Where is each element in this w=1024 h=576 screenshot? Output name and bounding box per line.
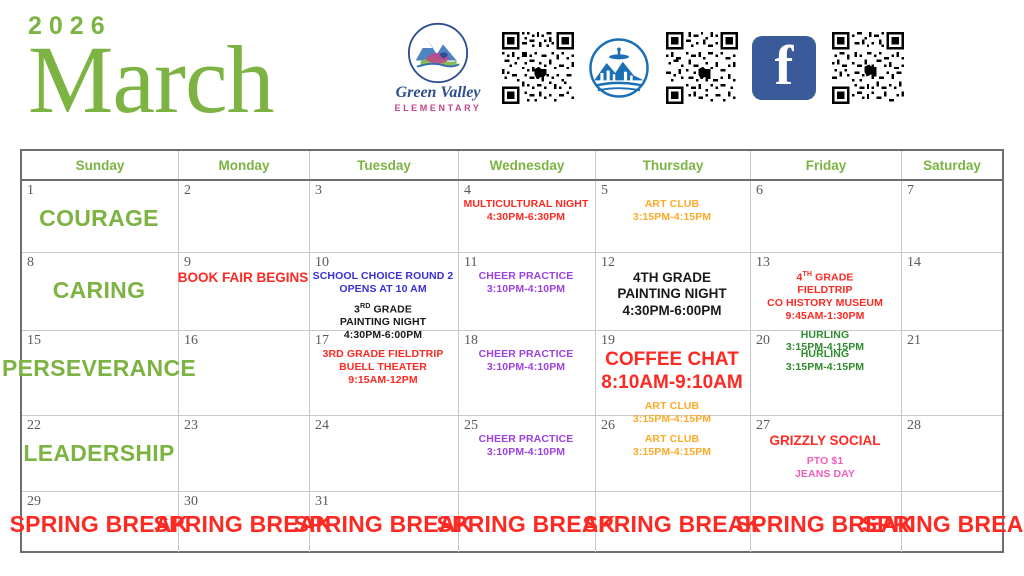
calendar-day-cell[interactable]: 124TH GRADEPAINTING NIGHT4:30PM-6:00PM	[596, 253, 751, 330]
day-events: MULTICULTURAL NIGHT4:30PM-6:30PM	[459, 183, 593, 252]
day-number: 9	[184, 255, 191, 270]
event-line: 3:10PM-4:10PM	[479, 283, 574, 296]
event-line: 3:15PM-4:15PM	[633, 211, 711, 224]
day-number: 12	[601, 255, 615, 270]
event-line: PAINTING NIGHT	[340, 316, 426, 329]
calendar-event[interactable]: GRIZZLY SOCIAL	[769, 433, 880, 449]
weekday-header-friday: Friday	[751, 151, 902, 179]
calendar-day-cell[interactable]: 173RD GRADE FIELDTRIPBUELL THEATER9:15AM…	[310, 331, 459, 415]
event-line: PTO $1	[795, 455, 855, 468]
qr-code-school-icon[interactable]	[502, 32, 574, 104]
calendar-day-cell[interactable]: SPRING BREAK	[902, 492, 1002, 552]
calendar-day-cell[interactable]: 14	[902, 253, 1002, 330]
calendar-day-cell[interactable]: 4MULTICULTURAL NIGHT4:30PM-6:30PM	[459, 181, 596, 252]
calendar-body: 1COURAGE234MULTICULTURAL NIGHT4:30PM-6:3…	[22, 181, 1002, 552]
event-line: 4:30PM-6:30PM	[464, 211, 589, 224]
day-number: 5	[601, 183, 608, 198]
event-line: ART CLUB	[633, 198, 711, 211]
calendar-day-cell[interactable]: 19COFFEE CHAT8:10AM-9:10AMART CLUB3:15PM…	[596, 331, 751, 415]
calendar-week-row: 1COURAGE234MULTICULTURAL NIGHT4:30PM-6:3…	[22, 181, 1002, 253]
event-line: CO HISTORY MUSEUM	[767, 297, 883, 310]
day-events: ART CLUB3:15PM-4:15PM	[596, 418, 748, 491]
day-number: 22	[27, 418, 41, 433]
mountain-bear-logo-icon	[407, 22, 469, 84]
calendar-event[interactable]: CARING	[53, 276, 146, 304]
calendar-day-cell[interactable]: 20HURLING3:15PM-4:15PM	[751, 331, 902, 415]
calendar-day-cell[interactable]: 11CHEER PRACTICE3:10PM-4:10PM	[459, 253, 596, 330]
day-number: 20	[756, 333, 770, 348]
day-number: 7	[907, 183, 914, 198]
day-number: 3	[315, 183, 322, 198]
day-number: 18	[464, 333, 478, 348]
day-events: SPRING BREAK	[596, 494, 748, 552]
weekday-header-tuesday: Tuesday	[310, 151, 459, 179]
event-line: 3:10PM-4:10PM	[479, 446, 574, 459]
event-line: 4:30PM-6:00PM	[617, 303, 726, 319]
calendar-event[interactable]: BOOK FAIR BEGINS	[178, 270, 309, 286]
calendar-day-cell[interactable]: 7	[902, 181, 1002, 252]
calendar-event[interactable]: SPRING BREAK	[862, 510, 1024, 538]
event-line: 3:15PM-4:15PM	[633, 446, 711, 459]
event-line: 3RD GRADE	[340, 302, 426, 316]
weekday-header-row: SundayMondayTuesdayWednesdayThursdayFrid…	[22, 151, 1002, 181]
day-number: 28	[907, 418, 921, 433]
event-line: CARING	[53, 276, 146, 304]
event-line: BUELL THEATER	[323, 361, 444, 374]
district-skyline-logo-icon	[588, 37, 650, 99]
calendar-event[interactable]: MULTICULTURAL NIGHT4:30PM-6:30PM	[464, 198, 589, 224]
day-events	[310, 183, 456, 252]
calendar-grid: SundayMondayTuesdayWednesdayThursdayFrid…	[20, 149, 1004, 553]
event-line: PERSEVERANCE	[2, 354, 196, 382]
event-line: 3RD GRADE FIELDTRIP	[323, 348, 444, 361]
event-line: COFFEE CHAT	[601, 348, 742, 371]
day-number: 11	[464, 255, 477, 270]
event-line: CHEER PRACTICE	[479, 433, 574, 446]
day-number: 31	[315, 494, 329, 509]
calendar-event[interactable]: PERSEVERANCE	[2, 354, 196, 382]
event-line: BOOK FAIR BEGINS	[178, 270, 309, 286]
school-logo: Green Valley ELEMENTARY	[390, 22, 486, 113]
day-events: CARING	[22, 255, 176, 330]
calendar-page: 2026 March Green Valley	[0, 0, 1024, 576]
event-line: 9:15AM-12PM	[323, 374, 444, 387]
day-events	[179, 333, 307, 415]
calendar-event[interactable]: ART CLUB3:15PM-4:15PM	[633, 198, 711, 224]
day-number: 27	[756, 418, 770, 433]
day-number: 16	[184, 333, 198, 348]
day-number: 29	[27, 494, 41, 509]
weekday-header-sunday: Sunday	[22, 151, 179, 179]
calendar-day-cell[interactable]: 3	[310, 181, 459, 252]
calendar-day-cell[interactable]: 1COURAGE	[22, 181, 179, 252]
day-number: 4	[464, 183, 471, 198]
weekday-header-monday: Monday	[179, 151, 310, 179]
calendar-day-cell[interactable]: 30SPRING BREAK	[179, 492, 310, 552]
day-number: 26	[601, 418, 615, 433]
facebook-icon[interactable]	[752, 36, 816, 100]
calendar-day-cell[interactable]: 5ART CLUB3:15PM-4:15PM	[596, 181, 751, 252]
page-header: 2026 March Green Valley	[0, 0, 1024, 148]
day-events: 4TH GRADEFIELDTRIPCO HISTORY MUSEUM9:45A…	[751, 255, 899, 330]
day-events	[310, 418, 456, 491]
calendar-event[interactable]: ART CLUB3:15PM-4:15PM	[633, 433, 711, 459]
calendar-event[interactable]: SCHOOL CHOICE ROUND 2OPENS AT 10 AM	[313, 270, 454, 296]
event-line: HURLING	[786, 348, 864, 361]
calendar-event[interactable]: PTO $1JEANS DAY	[795, 455, 855, 481]
weekday-header-wednesday: Wednesday	[459, 151, 596, 179]
calendar-day-cell[interactable]: 24	[310, 416, 459, 491]
day-number: 14	[907, 255, 921, 270]
calendar-day-cell[interactable]: SPRING BREAK	[596, 492, 751, 552]
event-line: ART CLUB	[633, 433, 711, 446]
calendar-event[interactable]: COURAGE	[39, 204, 159, 232]
calendar-event[interactable]: COFFEE CHAT8:10AM-9:10AM	[601, 348, 742, 394]
day-number: 17	[315, 333, 329, 348]
day-events: ART CLUB3:15PM-4:15PM	[596, 183, 748, 252]
day-number: 21	[907, 333, 921, 348]
event-line: JEANS DAY	[795, 468, 855, 481]
month-label: March	[28, 35, 274, 125]
event-line: 4TH GRADE	[767, 270, 883, 284]
calendar-event[interactable]: LEADERSHIP	[23, 439, 174, 467]
calendar-day-cell[interactable]: 28	[902, 416, 1002, 491]
day-number: 15	[27, 333, 41, 348]
event-line: OPENS AT 10 AM	[313, 283, 454, 296]
event-line: ART CLUB	[633, 400, 711, 413]
weekday-header-thursday: Thursday	[596, 151, 751, 179]
day-number: 24	[315, 418, 329, 433]
day-events: BOOK FAIR BEGINS	[179, 255, 307, 330]
title-block: 2026 March	[28, 14, 274, 125]
day-events: SCHOOL CHOICE ROUND 2OPENS AT 10 AM3RD G…	[310, 255, 456, 330]
day-events	[179, 418, 307, 491]
day-events: 4TH GRADEPAINTING NIGHT4:30PM-6:00PM	[596, 255, 748, 330]
calendar-day-cell[interactable]: 26ART CLUB3:15PM-4:15PM	[596, 416, 751, 491]
weekday-header-saturday: Saturday	[902, 151, 1002, 179]
event-line: MULTICULTURAL NIGHT	[464, 198, 589, 211]
calendar-week-row: 15PERSEVERANCE16173RD GRADE FIELDTRIPBUE…	[22, 331, 1002, 416]
day-events: CHEER PRACTICE3:10PM-4:10PM	[459, 418, 593, 491]
event-line: GRIZZLY SOCIAL	[769, 433, 880, 449]
day-events	[751, 183, 899, 252]
event-line: 4TH GRADE	[617, 270, 726, 286]
event-line: SCHOOL CHOICE ROUND 2	[313, 270, 454, 283]
calendar-event[interactable]: CHEER PRACTICE3:10PM-4:10PM	[479, 348, 574, 374]
event-line: 8:10AM-9:10AM	[601, 371, 742, 394]
day-number: 30	[184, 494, 198, 509]
event-line: CHEER PRACTICE	[479, 348, 574, 361]
event-line: 9:45AM-1:30PM	[767, 310, 883, 323]
calendar-event[interactable]: 4TH GRADEPAINTING NIGHT4:30PM-6:00PM	[617, 270, 726, 319]
day-events: SPRING BREAK	[902, 494, 1000, 552]
calendar-day-cell[interactable]: 22LEADERSHIP	[22, 416, 179, 491]
day-number: 8	[27, 255, 34, 270]
day-number: 25	[464, 418, 478, 433]
event-line: LEADERSHIP	[23, 439, 174, 467]
calendar-day-cell[interactable]: 2	[179, 181, 310, 252]
calendar-event[interactable]: HURLING3:15PM-4:15PM	[786, 348, 864, 374]
calendar-day-cell[interactable]: 9BOOK FAIR BEGINS	[179, 253, 310, 330]
calendar-day-cell[interactable]: 15PERSEVERANCE	[22, 331, 179, 415]
event-line: COURAGE	[39, 204, 159, 232]
event-line: 3:10PM-4:10PM	[479, 361, 574, 374]
calendar-day-cell[interactable]: 18CHEER PRACTICE3:10PM-4:10PM	[459, 331, 596, 415]
day-events: SPRING BREAK	[459, 494, 593, 552]
calendar-day-cell[interactable]: 23	[179, 416, 310, 491]
calendar-event[interactable]: CHEER PRACTICE3:10PM-4:10PM	[479, 270, 574, 296]
day-number: 1	[27, 183, 34, 198]
event-line: CHEER PRACTICE	[479, 270, 574, 283]
day-events	[179, 183, 307, 252]
day-number: 13	[756, 255, 770, 270]
calendar-event[interactable]: 3RD GRADE FIELDTRIPBUELL THEATER9:15AM-1…	[323, 348, 444, 386]
day-events: GRIZZLY SOCIALPTO $1JEANS DAY	[751, 418, 899, 491]
event-line: 3:15PM-4:15PM	[786, 361, 864, 374]
calendar-day-cell[interactable]: 21	[902, 331, 1002, 415]
calendar-day-cell[interactable]: 10SCHOOL CHOICE ROUND 2OPENS AT 10 AM3RD…	[310, 253, 459, 330]
event-line: PAINTING NIGHT	[617, 286, 726, 302]
event-line: FIELDTRIP	[767, 284, 883, 297]
calendar-event[interactable]: 4TH GRADEFIELDTRIPCO HISTORY MUSEUM9:45A…	[767, 270, 883, 323]
day-events: SPRING BREAK	[310, 494, 456, 552]
calendar-day-cell[interactable]: 8CARING	[22, 253, 179, 330]
day-events: COURAGE	[22, 183, 176, 252]
event-line: SPRING BREAK	[583, 510, 762, 538]
day-events: LEADERSHIP	[22, 418, 176, 491]
day-number: 10	[315, 255, 329, 270]
day-events: CHEER PRACTICE3:10PM-4:10PM	[459, 255, 593, 330]
day-number: 2	[184, 183, 191, 198]
day-events: 3RD GRADE FIELDTRIPBUELL THEATER9:15AM-1…	[310, 333, 456, 415]
day-events: HURLING3:15PM-4:15PM	[751, 333, 899, 415]
day-number: 23	[184, 418, 198, 433]
day-number: 19	[601, 333, 615, 348]
school-subtitle: ELEMENTARY	[390, 103, 486, 113]
calendar-day-cell[interactable]: 16	[179, 331, 310, 415]
day-events: COFFEE CHAT8:10AM-9:10AMART CLUB3:15PM-4…	[596, 333, 748, 415]
day-events: SPRING BREAK	[179, 494, 307, 552]
day-number: 6	[756, 183, 763, 198]
school-name: Green Valley	[390, 85, 486, 101]
qr-code-district-icon[interactable]	[666, 32, 738, 104]
calendar-week-row: 29SPRING BREAK30SPRING BREAK31SPRING BRE…	[22, 492, 1002, 552]
calendar-week-row: 8CARING9BOOK FAIR BEGINS10SCHOOL CHOICE …	[22, 253, 1002, 331]
day-events: CHEER PRACTICE3:10PM-4:10PM	[459, 333, 593, 415]
qr-code-facebook-icon[interactable]	[832, 32, 904, 104]
day-events	[902, 183, 1000, 252]
logo-strip: Green Valley ELEMENTARY	[390, 22, 904, 113]
calendar-week-row: 22LEADERSHIP232425CHEER PRACTICE3:10PM-4…	[22, 416, 1002, 492]
calendar-day-cell[interactable]: 25CHEER PRACTICE3:10PM-4:10PM	[459, 416, 596, 491]
calendar-day-cell[interactable]: SPRING BREAK	[459, 492, 596, 552]
calendar-day-cell[interactable]: 134TH GRADEFIELDTRIPCO HISTORY MUSEUM9:4…	[751, 253, 902, 330]
day-events: PERSEVERANCE	[22, 333, 176, 415]
calendar-day-cell[interactable]: 6	[751, 181, 902, 252]
event-line: SPRING BREAK	[862, 510, 1024, 538]
calendar-day-cell[interactable]: 27GRIZZLY SOCIALPTO $1JEANS DAY	[751, 416, 902, 491]
calendar-event[interactable]: SPRING BREAK	[583, 510, 762, 538]
calendar-event[interactable]: CHEER PRACTICE3:10PM-4:10PM	[479, 433, 574, 459]
